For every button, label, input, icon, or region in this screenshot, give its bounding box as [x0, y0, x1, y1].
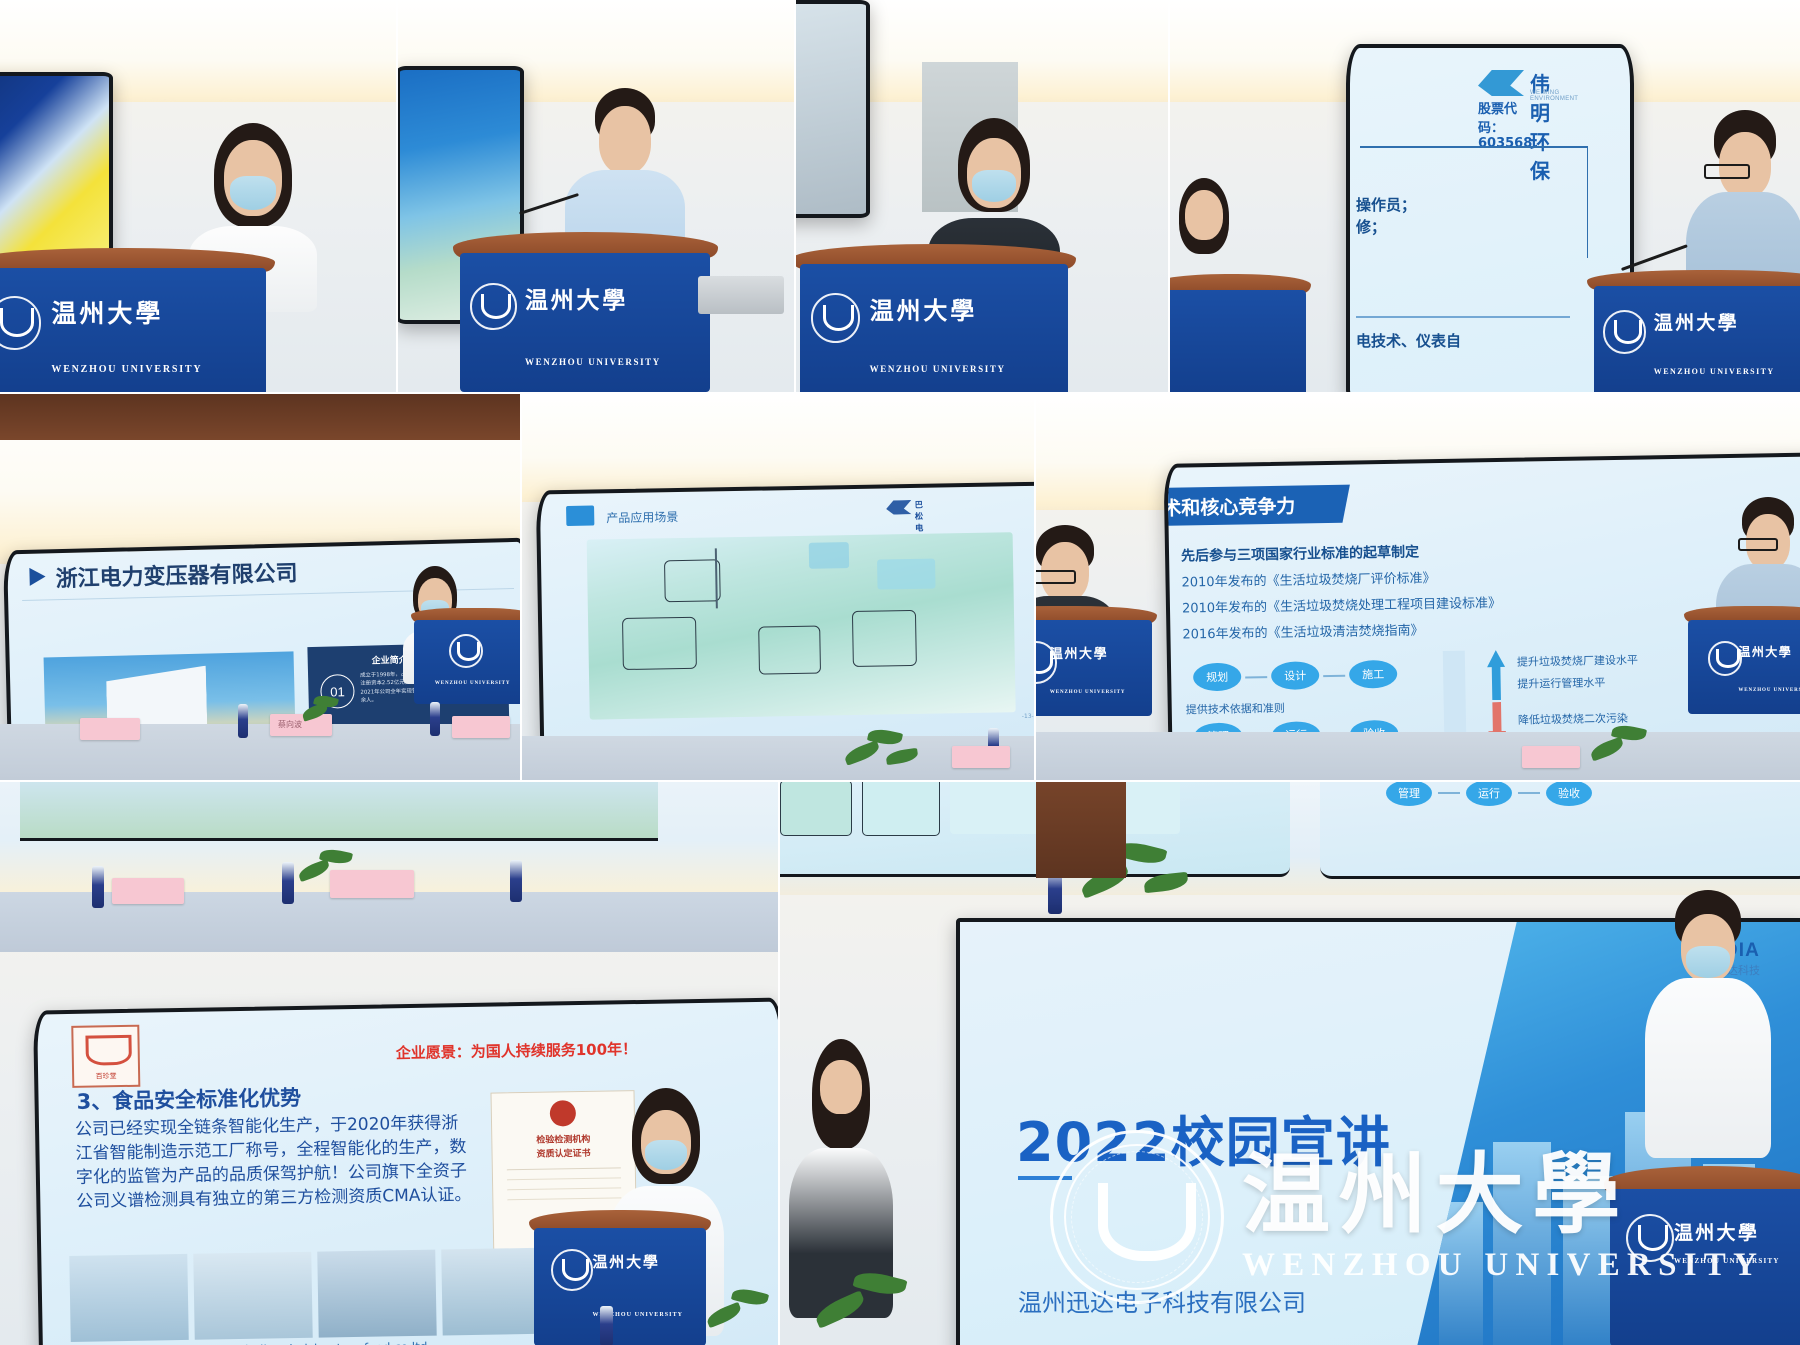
plant — [298, 846, 366, 898]
podium-brand-cn: 温州大學 — [870, 291, 978, 326]
callout-box — [664, 559, 721, 602]
plant — [842, 724, 922, 780]
flow-node-build: 施工 — [1349, 660, 1397, 689]
weiming-mark-icon — [1478, 70, 1524, 96]
weiming-stock-code: 股票代码：603568 — [1478, 98, 1532, 151]
face-mask — [1686, 946, 1730, 978]
collage-panel-7: 术和核心竞争力 伟明环保 股票代码：603568 先后参与三项国家行业标准的起草… — [1036, 394, 1800, 780]
flow-node-accept: 验收 — [1546, 782, 1592, 806]
face-mask — [230, 176, 276, 210]
podium: 温州大學 WENZHOU UNIVERSITY — [1036, 606, 1152, 716]
building — [808, 542, 848, 569]
collage-panel-8: 百珍堂 企业愿景：为国人持续服务100年！ 3、食品安全标准化优势 公司已经实现… — [0, 782, 778, 1345]
benefit-up-2: 提升运行管理水平 — [1517, 674, 1605, 692]
slide-line-2: 2010年发布的《生活垃圾焚烧厂评价标准》 — [1181, 567, 1435, 590]
university-seal-icon — [1626, 1214, 1674, 1262]
panel-separator — [0, 780, 1800, 782]
panel-separator — [1034, 394, 1036, 780]
university-seal-icon — [449, 634, 483, 668]
university-seal-icon — [1603, 310, 1646, 353]
panel-separator — [1168, 0, 1170, 392]
torso — [1645, 978, 1771, 1158]
lab-photo — [69, 1254, 188, 1342]
callout-box — [780, 782, 852, 836]
podium-face: 温州大學 WENZHOU UNIVERSITY — [1594, 286, 1800, 392]
university-seal-icon — [551, 1249, 593, 1291]
name-card — [80, 718, 140, 740]
slide-title: 2022校园宣讲 — [1016, 1098, 1391, 1177]
podium: 温州大學 WENZHOU UNIVERSITY — [1594, 270, 1800, 392]
vertical-label-box — [1443, 651, 1467, 745]
panel-separator — [396, 0, 398, 392]
podium: 温州大學 WENZHOU UNIVERSITY — [0, 248, 266, 392]
podium-face: 温州大學 WENZHOU UNIVERSITY — [1610, 1189, 1800, 1345]
flow-node-manage: 管理 — [1386, 782, 1432, 806]
university-seal-icon — [0, 296, 41, 349]
name-card — [452, 716, 510, 738]
building — [877, 559, 936, 590]
collage-panel-6: 产品应用场景 巴松电器有限公司 http://www.china-xj.com … — [522, 394, 1034, 780]
flow-node-operate: 运行 — [1466, 782, 1512, 806]
divider-line-2 — [1356, 316, 1570, 318]
name-card — [112, 878, 184, 904]
wood-column — [1036, 782, 1126, 878]
slide-title: 产品应用场景 — [606, 508, 678, 526]
slide-title: 浙江电力变压器有限公司 — [55, 555, 298, 593]
podium-brand-en: WENZHOU UNIVERSITY — [1738, 688, 1800, 693]
baizhentang-logo-text: 百珍堂 — [80, 1071, 132, 1082]
podium-brand-en: WENZHOU UNIVERSITY — [525, 357, 661, 367]
slide-title: 术和核心竞争力 — [1163, 492, 1295, 521]
podium-brand-cn: 温州大學 — [51, 294, 163, 330]
callout-box — [862, 782, 940, 836]
podium-brand-cn: 温州大學 — [592, 1251, 659, 1272]
leaf — [1589, 737, 1626, 762]
screen-line-1: 操作员； — [1356, 194, 1416, 215]
leaf — [812, 1290, 867, 1329]
water-bottle — [430, 702, 440, 736]
podium: 温州大學 WENZHOU UNIVERSITY — [460, 232, 710, 392]
slide-line-1: 先后参与三项国家行业标准的起草制定 — [1181, 541, 1419, 565]
pot-icon — [85, 1035, 132, 1066]
side-screen — [796, 0, 870, 218]
collage-panel-5: 浙江电力变压器有限公司 企业简介 01 成立于1998年，占地100亩，拥有厂房… — [0, 394, 520, 780]
presentation-screen: 产品应用场景 巴松电器有限公司 http://www.china-xj.com … — [536, 482, 1034, 751]
podium: 温州大學 WENZHOU UNIVERSITY — [534, 1210, 706, 1345]
upper-screen-left — [780, 782, 1290, 877]
callout-box — [622, 617, 697, 670]
building — [1563, 1176, 1613, 1345]
panel-separator — [794, 0, 796, 392]
leaf — [297, 859, 332, 882]
company-mark-icon — [886, 500, 912, 515]
callout-box — [852, 609, 917, 666]
folder-icon — [566, 506, 594, 526]
leaf — [1143, 872, 1189, 894]
name-card — [952, 746, 1010, 768]
head — [599, 106, 651, 174]
podium: 温州大學 WENZHOU UNIVERSITY — [1610, 1166, 1800, 1345]
podium-face: 温州大學 WENZHOU UNIVERSITY — [1688, 620, 1800, 714]
upper-screen-bottom — [20, 782, 658, 841]
podium: 温州大學 WENZHOU UNIVERSITY — [1688, 606, 1800, 714]
chevron-right-icon — [29, 567, 45, 585]
podium-face: 温州大學 WENZHOU UNIVERSITY — [800, 264, 1068, 392]
arrow-up-icon — [1487, 650, 1506, 700]
laptop — [698, 276, 784, 314]
national-emblem-icon — [550, 1100, 576, 1126]
slide-line-3: 2010年发布的《生活垃圾焚烧处理工程项目建设标准》 — [1182, 592, 1501, 617]
flow-arrow — [1245, 676, 1267, 678]
collage-panel-2: 温州大學 WENZHOU UNIVERSITY — [398, 0, 794, 392]
flow-arrow — [1518, 792, 1540, 794]
title-rule — [1018, 1176, 1072, 1180]
podium-brand-cn: 温州大學 — [1050, 643, 1108, 662]
flow-node-plan: 规划 — [1193, 663, 1241, 692]
podium-brand-en: WENZHOU UNIVERSITY — [51, 364, 202, 375]
water-bottle — [600, 1306, 613, 1345]
person-speaker — [1628, 902, 1788, 1192]
podium-face: 温州大學 WENZHOU UNIVERSITY — [534, 1228, 706, 1345]
slide-subtitle: 温州迅达电子科技有限公司 — [1018, 1283, 1306, 1318]
podium-brand-en: WENZHOU UNIVERSITY — [1674, 1257, 1780, 1265]
panel-separator — [778, 782, 780, 1345]
podium-face — [1170, 290, 1306, 392]
podium-brand-cn: 温州大學 — [1674, 1218, 1759, 1245]
side-label: 提供技术依据和准则 — [1186, 700, 1285, 718]
panel-separator — [0, 392, 1800, 394]
plant — [706, 1282, 778, 1345]
collage-panel-4: 伟明环保 WEIMING ENVIRONMENT 股票代码：603568 操作员… — [1170, 0, 1800, 392]
face-mask — [972, 170, 1016, 202]
screen-line-3: 电技术、仪表自 — [1356, 330, 1461, 351]
glasses-icon — [1704, 164, 1750, 179]
page-number: -13- — [1022, 713, 1034, 720]
podium-brand-en: WENZHOU UNIVERSITY — [870, 364, 1006, 374]
water-bottle — [92, 866, 104, 908]
podium-face: 温州大學 WENZHOU UNIVERSITY — [460, 253, 710, 392]
flow-arrow — [1323, 675, 1345, 677]
upper-wood-trim — [0, 394, 520, 440]
podium: 温州大學 WENZHOU UNIVERSITY — [800, 244, 1068, 392]
presentation-screen: 伟明环保 WEIMING ENVIRONMENT 股票代码：603568 操作员… — [1346, 44, 1634, 392]
university-seal-icon — [811, 293, 861, 343]
upper-screen-right: 管理 运行 验收 — [1320, 782, 1800, 879]
plant — [298, 694, 348, 738]
building — [1439, 1202, 1483, 1345]
weiming-logo-cn: 伟明环保 — [1530, 68, 1550, 184]
podium-brand-en: WENZHOU UNIVERSITY — [435, 681, 511, 686]
front-table — [1036, 732, 1800, 780]
company-url: zhejiangbaizhentangfood.co.ltd — [239, 1340, 428, 1345]
podium-brand-en: WENZHOU UNIVERSITY — [1050, 690, 1126, 695]
podium-brand-cn: 温州大學 — [525, 281, 628, 315]
isometric-illustration — [587, 532, 1016, 719]
photo-collage: 温州大學 WENZHOU UNIVERSITY 温州大學 WENZHOU UNI… — [0, 0, 1800, 1345]
glasses-icon — [1036, 570, 1076, 584]
baizhentang-logo: 百珍堂 — [71, 1025, 140, 1088]
person-partial — [1170, 182, 1244, 292]
flow-node-design: 设计 — [1271, 661, 1319, 690]
plant — [814, 1268, 926, 1345]
leaf — [843, 740, 882, 765]
collage-panel-1: 温州大學 WENZHOU UNIVERSITY — [0, 0, 396, 392]
slide-line-4: 2016年发布的《生活垃圾清洁焚烧指南》 — [1182, 619, 1423, 642]
flow-arrow — [1438, 792, 1460, 794]
callout-box — [759, 626, 822, 675]
water-bottle — [510, 860, 522, 902]
divider-line — [1360, 146, 1588, 148]
screen-line-2: 修； — [1356, 216, 1386, 237]
podium-brand-en: WENZHOU UNIVERSITY — [1654, 367, 1775, 376]
podium-face: WENZHOU UNIVERSITY — [414, 620, 520, 704]
glasses-icon — [1738, 538, 1778, 551]
slide-heading: 3、食品安全标准化优势 — [76, 1082, 301, 1116]
collage-panel-9: 管理 运行 验收 XIDIA 迅达科技 — [780, 782, 1800, 1345]
leaf — [885, 748, 918, 765]
water-bottle — [238, 704, 248, 738]
university-seal-icon — [470, 283, 517, 330]
podium-brand-cn: 温州大學 — [1738, 643, 1792, 660]
divider-line-v — [1587, 146, 1589, 258]
panel-separator — [520, 394, 522, 780]
name-card — [1522, 746, 1580, 768]
front-table — [0, 724, 520, 780]
head — [1185, 190, 1223, 240]
side-screen — [0, 72, 113, 275]
leaf — [705, 1302, 744, 1328]
slide-body: 公司已经实现全链条智能化生产，于2020年获得浙江省智能制造示范工厂称号，全程智… — [75, 1111, 477, 1214]
plant — [1588, 720, 1666, 776]
lab-photo — [193, 1252, 312, 1340]
head — [820, 1060, 862, 1114]
podium-face: 温州大學 WENZHOU UNIVERSITY — [0, 268, 266, 393]
lab-photo — [317, 1250, 436, 1338]
podium-brand-cn: 温州大學 — [1654, 308, 1739, 335]
podium: WENZHOU UNIVERSITY — [414, 608, 520, 704]
podium-face: 温州大學 WENZHOU UNIVERSITY — [1036, 620, 1152, 716]
building — [1493, 1142, 1551, 1345]
weiming-logo-en: WEIMING ENVIRONMENT — [1530, 90, 1578, 102]
company-vision: 企业愿景：为国人持续服务100年！ — [396, 1038, 638, 1063]
face-mask — [645, 1140, 687, 1170]
collage-panel-3: 温州大學 WENZHOU UNIVERSITY — [796, 0, 1168, 392]
water-bottle — [282, 862, 294, 904]
benefit-up-1: 提升垃圾焚烧厂建设水平 — [1517, 652, 1638, 670]
university-seal-icon — [1708, 641, 1743, 676]
